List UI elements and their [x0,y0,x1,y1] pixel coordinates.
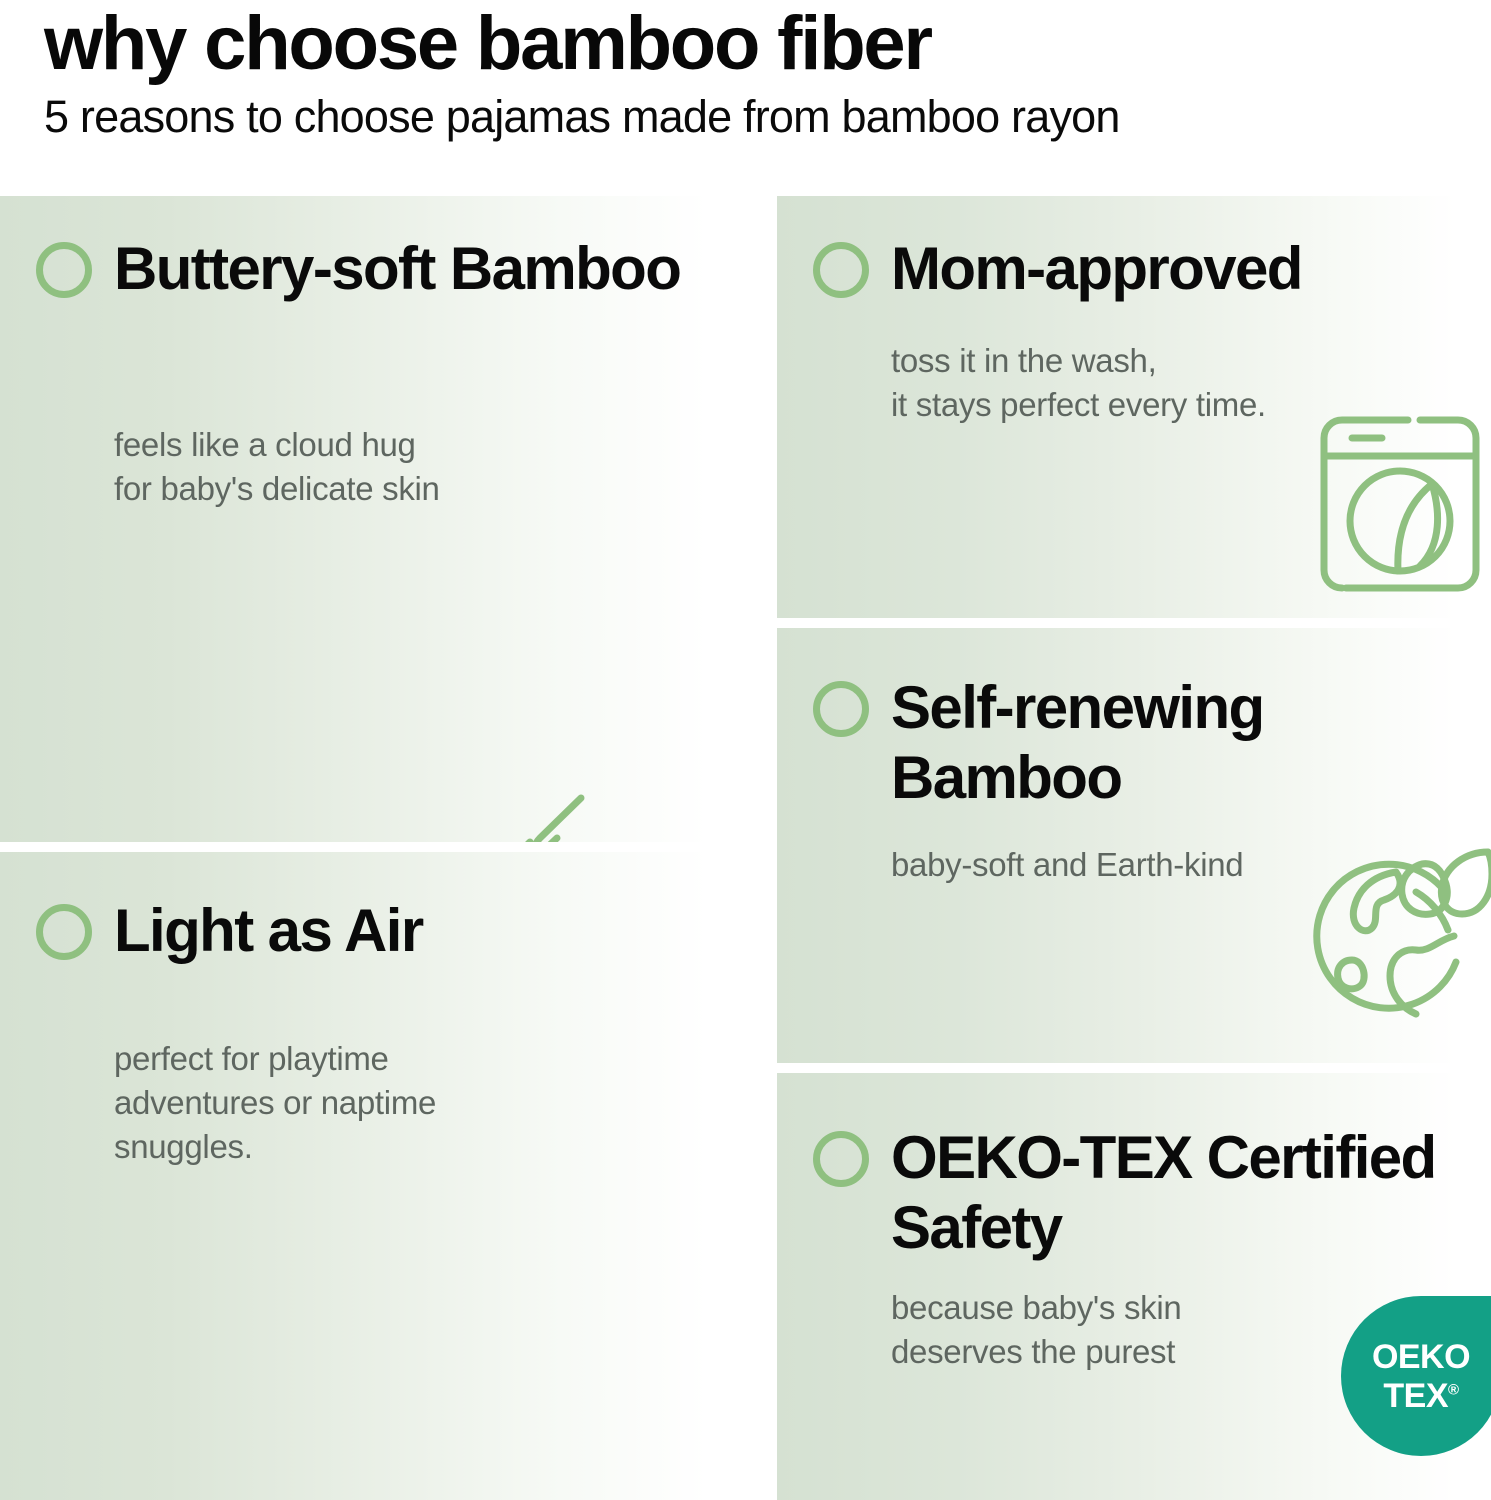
card-subtitle: perfect for playtime adventures or napti… [114,1037,436,1169]
benefit-card-light-as-air: Light as Air perfect for playtime advent… [0,852,760,1500]
card-subtitle: feels like a cloud hug for baby's delica… [114,423,440,511]
circle-outline-icon [813,1131,869,1187]
oeko-badge-line2-text: TEX [1383,1377,1448,1415]
card-subtitle: toss it in the wash, it stays perfect ev… [891,339,1266,427]
benefit-card-buttery-soft: Buttery-soft Bamboo feels like a cloud h… [0,196,760,842]
card-title: OEKO-TEX Certified Safety [891,1123,1491,1262]
circle-outline-icon [36,242,92,298]
benefit-card-grid: Buttery-soft Bamboo feels like a cloud h… [0,0,1491,1500]
card-heading-row: Self-renewing Bamboo [813,673,1491,812]
card-title: Light as Air [114,896,423,966]
card-subtitle: because baby's skin deserves the purest [891,1286,1181,1374]
card-title: Buttery-soft Bamboo [114,234,680,304]
circle-outline-icon [813,242,869,298]
hand-touching-fabric-icon [482,774,732,842]
benefit-card-mom-approved: Mom-approved toss it in the wash, it sta… [777,196,1491,618]
card-heading-row: Light as Air [36,896,423,966]
card-heading-row: OEKO-TEX Certified Safety [813,1123,1491,1262]
card-heading-row: Buttery-soft Bamboo [36,234,680,304]
card-title: Self-renewing Bamboo [891,673,1491,812]
infographic-page: why choose bamboo fiber 5 reasons to cho… [0,0,1491,1500]
circle-outline-icon [813,681,869,737]
oeko-badge-line1: OEKO [1372,1340,1470,1374]
circle-outline-icon [36,904,92,960]
oeko-badge-line2: TEX® [1383,1379,1458,1413]
card-subtitle: baby-soft and Earth-kind [891,843,1243,887]
oeko-tex-badge-icon: OEKO TEX® [1341,1296,1491,1456]
card-title: Mom-approved [891,234,1302,304]
card-heading-row: Mom-approved [813,234,1302,304]
benefit-card-self-renewing: Self-renewing Bamboo baby-soft and Earth… [777,628,1491,1063]
registered-mark: ® [1448,1381,1459,1398]
